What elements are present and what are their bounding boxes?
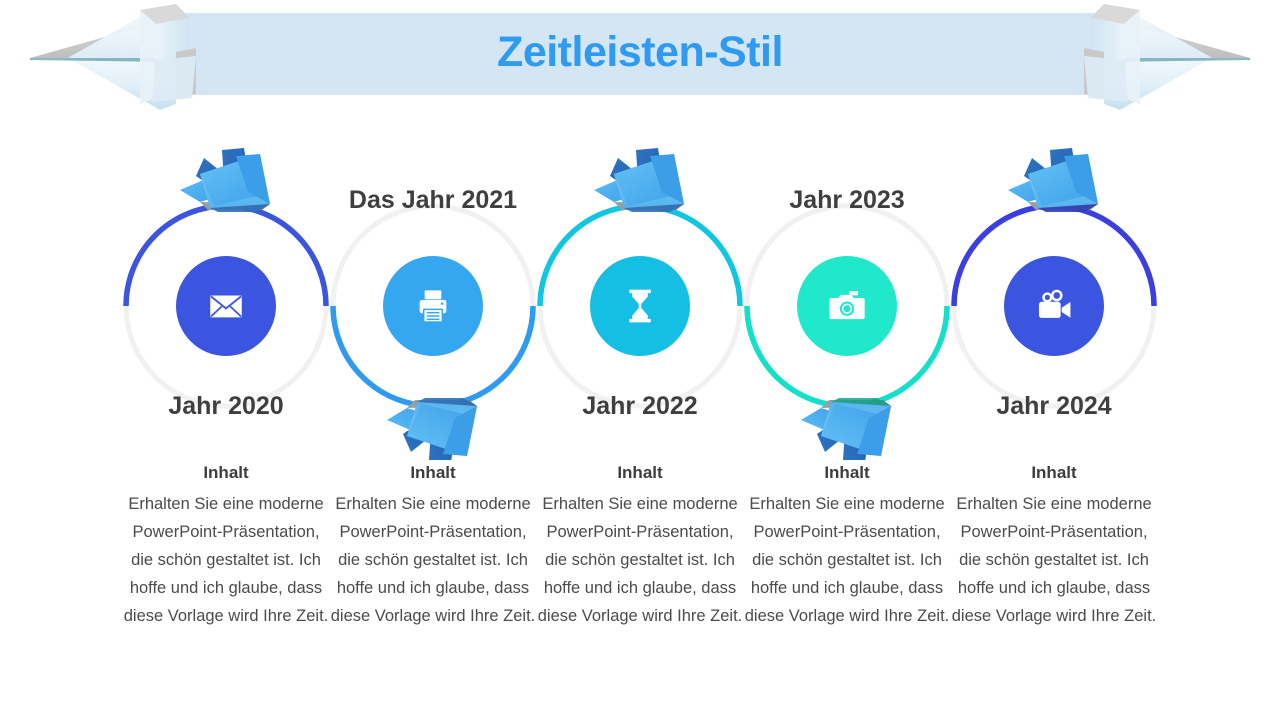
content-heading-5: Inhalt [951,462,1157,484]
milestone-node-1[interactable] [123,203,329,409]
content-heading-3: Inhalt [537,462,743,484]
content-columns: Inhalt Erhalten Sie eine moderne PowerPo… [0,462,1280,692]
page-title: Zeitleisten-Stil [0,24,1280,80]
content-heading-4: Inhalt [744,462,950,484]
content-column-2: Inhalt Erhalten Sie eine moderne PowerPo… [330,462,536,630]
milestone-icon-circle-2[interactable] [383,256,483,356]
content-body-3: Erhalten Sie eine moderne PowerPoint-Prä… [537,490,743,630]
milestone-icon-circle-5[interactable] [1004,256,1104,356]
milestone-node-4[interactable] [744,203,950,409]
printer-icon [413,286,453,326]
milestone-icon-circle-3[interactable] [590,256,690,356]
slide-canvas: Zeitleisten-Stil [0,0,1280,720]
content-column-5: Inhalt Erhalten Sie eine moderne PowerPo… [951,462,1157,630]
content-body-1: Erhalten Sie eine moderne PowerPoint-Prä… [123,490,329,630]
milestone-year-label-3: Jahr 2022 [510,392,770,421]
milestone-year-label-1: Jahr 2020 [96,392,356,421]
milestone-year-label-5: Jahr 2024 [924,392,1184,421]
content-body-2: Erhalten Sie eine moderne PowerPoint-Prä… [330,490,536,630]
timeline-graphic: Jahr 2020 Das Jahr 2021 [0,120,1280,460]
content-body-5: Erhalten Sie eine moderne PowerPoint-Prä… [951,490,1157,630]
video-camera-icon [1033,285,1075,327]
milestone-node-3[interactable] [537,203,743,409]
milestone-node-2[interactable] [330,203,536,409]
content-heading-2: Inhalt [330,462,536,484]
content-column-4: Inhalt Erhalten Sie eine moderne PowerPo… [744,462,950,630]
milestone-year-label-2: Das Jahr 2021 [303,186,563,215]
milestone-icon-circle-4[interactable] [797,256,897,356]
milestone-node-5[interactable] [951,203,1157,409]
content-column-3: Inhalt Erhalten Sie eine moderne PowerPo… [537,462,743,630]
title-banner: Zeitleisten-Stil [0,0,1280,110]
milestone-year-label-4: Jahr 2023 [717,186,977,215]
hourglass-icon [620,286,660,326]
camera-icon [827,286,867,326]
content-column-1: Inhalt Erhalten Sie eine moderne PowerPo… [123,462,329,630]
milestone-icon-circle-1[interactable] [176,256,276,356]
envelope-icon [205,285,247,327]
content-body-4: Erhalten Sie eine moderne PowerPoint-Prä… [744,490,950,630]
content-heading-1: Inhalt [123,462,329,484]
